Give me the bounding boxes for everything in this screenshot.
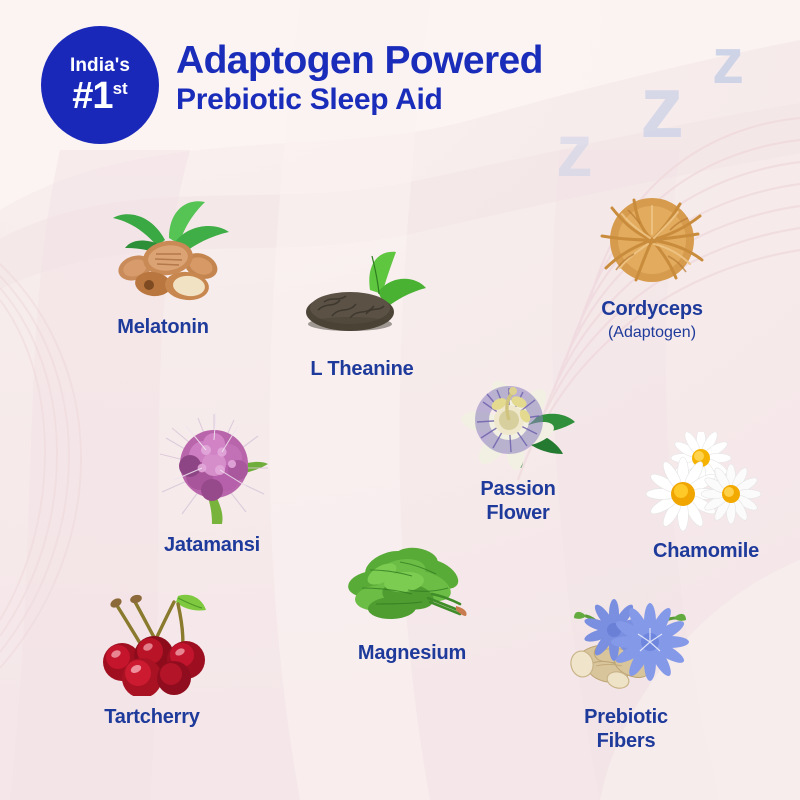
cordyceps-mushroom-icon: [582, 190, 722, 290]
almonds-mint-icon: [83, 196, 243, 306]
indias-first-badge: India's #1 st: [41, 26, 159, 144]
badge-rank-suffix: st: [113, 80, 128, 97]
chamomile-daisies-icon: [639, 432, 774, 532]
infographic-canvas: z z z India's #1 st Adaptogen Powered Pr…: [0, 0, 800, 800]
badge-rank: #1 st: [72, 77, 127, 115]
badge-top-text: India's: [70, 56, 130, 75]
ingredient-chamomile: Chamomile: [602, 432, 800, 564]
page-title: Adaptogen Powered Prebiotic Sleep Aid: [176, 40, 543, 116]
ingredient-label: Cordyceps: [530, 298, 774, 322]
ingredient-melatonin: Melatonin: [48, 196, 278, 340]
chicory-root-flower-icon: [556, 596, 696, 696]
ingredient-magnesium: Magnesium: [292, 540, 532, 666]
ingredient-tartcherry: Tartcherry: [40, 586, 264, 730]
ingredient-label: Chamomile: [602, 540, 800, 564]
ingredient-l-theanine: L Theanine: [252, 250, 472, 382]
ingredient-sublabel: (Adaptogen): [530, 323, 774, 342]
ingredient-label: Tartcherry: [40, 706, 264, 730]
ingredient-prebiotic-fibers: Prebiotic Fibers: [510, 596, 742, 753]
header: India's #1 st Adaptogen Powered Prebioti…: [0, 0, 800, 150]
cherries-icon: [82, 586, 222, 696]
ingredient-label: Jatamansi: [104, 534, 320, 558]
ingredient-label: Magnesium: [292, 642, 532, 666]
badge-rank-number: #1: [72, 77, 112, 115]
tea-leaves-icon: [292, 250, 432, 340]
ingredient-passion-flower: Passion Flower: [420, 370, 616, 525]
title-line-2: Prebiotic Sleep Aid: [176, 83, 543, 116]
ingredient-label: Melatonin: [48, 316, 278, 340]
ingredient-label: Passion Flower: [420, 478, 616, 525]
ingredient-cordyceps: Cordyceps (Adaptogen): [530, 190, 774, 342]
title-line-1: Adaptogen Powered: [176, 40, 543, 81]
ingredient-label: Prebiotic Fibers: [510, 706, 742, 753]
jatamansi-flower-icon: [142, 406, 282, 526]
ingredient-jatamansi: Jatamansi: [104, 406, 320, 558]
passion-flower-icon: [453, 370, 583, 470]
spinach-leaves-icon: [342, 540, 482, 630]
